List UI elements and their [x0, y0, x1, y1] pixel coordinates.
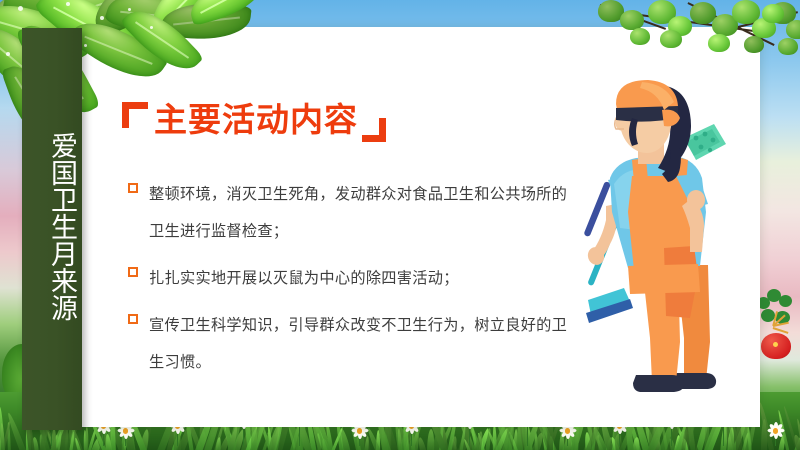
bullet-list: 整顿环境，消灭卫生死角，发动群众对食品卫生和公共场所的卫生进行监督检查；扎扎实实… — [128, 176, 568, 391]
round-leaf-shape — [708, 34, 730, 52]
bullet-square-icon — [128, 183, 138, 193]
bullet-item: 宣传卫生科学知识，引导群众改变不卫生行为，树立良好的卫生习惯。 — [128, 307, 568, 381]
bullet-item-text: 整顿环境，消灭卫生死角，发动群众对食品卫生和公共场所的卫生进行监督检查； — [149, 176, 568, 250]
round-leaf-shape — [778, 38, 798, 55]
sidebar-panel: 爱国卫生月来源 — [22, 28, 82, 430]
bullet-square-icon — [128, 314, 138, 324]
page-title-text: 主要活动内容 — [154, 100, 358, 140]
dew-drop — [18, 6, 23, 11]
bullet-item: 扎扎实实地开展以灭鼠为中心的除四害活动； — [128, 260, 568, 297]
daisy-flower — [768, 423, 783, 438]
round-leaf-shape — [744, 36, 764, 53]
dew-drop — [66, 2, 70, 6]
corner-bracket-left-icon — [122, 102, 148, 128]
bullet-item: 整顿环境，消灭卫生死角，发动群众对食品卫生和公共场所的卫生进行监督检查； — [128, 176, 568, 250]
bullet-square-icon — [128, 267, 138, 277]
slide-canvas: 爱国卫生月来源 主要活动内容 整顿环境，消灭卫生死角，发动群众对食品卫生和公共场… — [0, 0, 800, 450]
headscarf-icon — [616, 80, 680, 126]
page-title: 主要活动内容 — [122, 100, 386, 142]
bullet-item-text: 扎扎实实地开展以灭鼠为中心的除四害活动； — [149, 260, 459, 297]
dew-drop — [150, 26, 153, 29]
round-leaf-shape — [620, 10, 644, 30]
round-leaf-shape — [660, 30, 682, 48]
dew-drop — [128, 8, 131, 11]
dew-drop — [100, 16, 104, 20]
dew-drop — [6, 52, 10, 56]
sidebar-vertical-title: 爱国卫生月来源 — [22, 76, 82, 376]
cleaning-worker-illustration — [580, 80, 780, 410]
round-leaf-shape — [630, 28, 650, 45]
round-leaf-shape — [786, 20, 800, 39]
corner-bracket-right-icon — [362, 118, 386, 142]
dew-drop — [84, 44, 87, 47]
round-leaf-shape — [762, 4, 784, 23]
bullet-item-text: 宣传卫生科学知识，引导群众改变不卫生行为，树立良好的卫生习惯。 — [149, 307, 568, 381]
